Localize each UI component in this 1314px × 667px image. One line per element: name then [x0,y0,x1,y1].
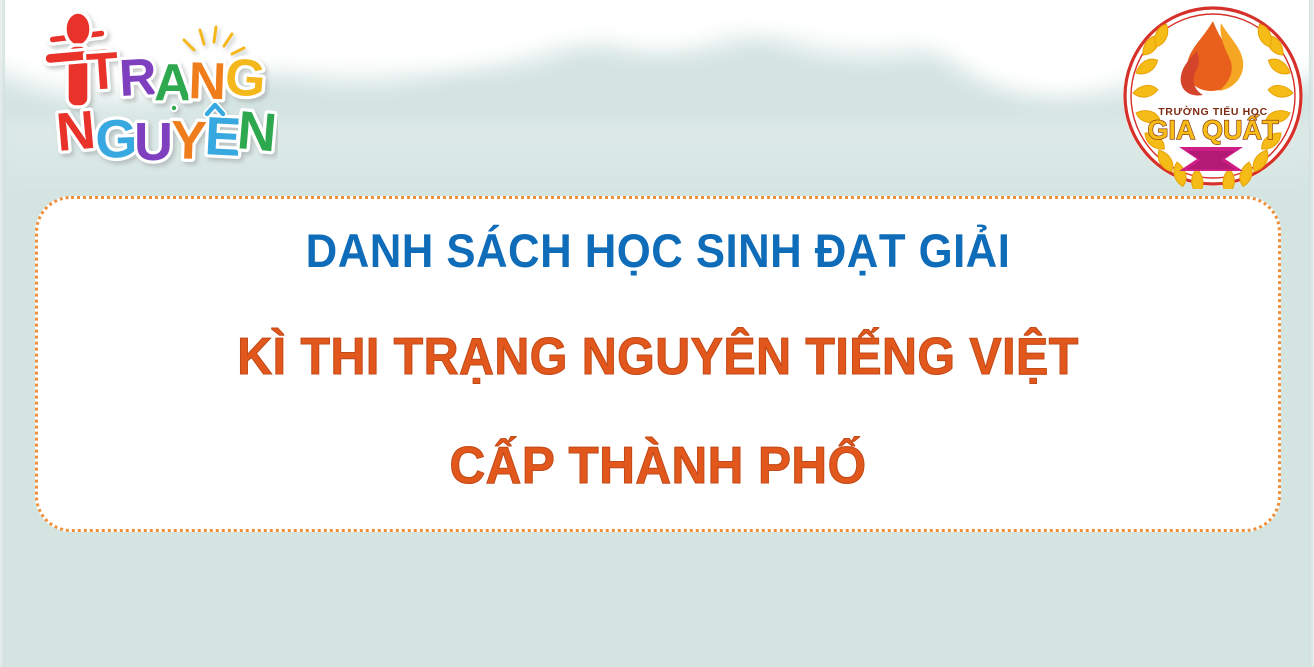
svg-text:G: G [94,109,138,170]
exam-level-subtitle: CẤP THÀNH PHỐ [69,440,1247,492]
svg-text:A: A [154,54,192,112]
seal-main-text: GIA QUẤT [1148,114,1279,145]
svg-text:R: R [118,48,159,108]
svg-text:U: U [134,112,173,172]
announcement-card: DANH SÁCH HỌC SINH ĐẠT GIẢI KÌ THI TRẠNG… [35,196,1281,532]
gia-quat-school-seal: TRƯỜNG TIỂU HỌC GIA QUẤT [1117,3,1309,189]
svg-text:Y: Y [170,110,208,171]
page-title: DANH SÁCH HỌC SINH ĐẠT GIẢI [81,227,1234,274]
svg-text:N: N [235,100,278,163]
svg-text:T: T [85,42,121,102]
exam-name-subtitle: KÌ THI TRẠNG NGUYÊN TIẾNG VIỆT [81,331,1234,383]
right-edge-strip [1309,0,1314,667]
trang-nguyen-logo: T R A N G N G U Y E N [28,8,278,183]
svg-text:N: N [54,100,98,163]
slide-root: T R A N G N G U Y E N [0,0,1314,667]
svg-text:N: N [188,52,228,111]
left-edge-strip [0,0,5,667]
